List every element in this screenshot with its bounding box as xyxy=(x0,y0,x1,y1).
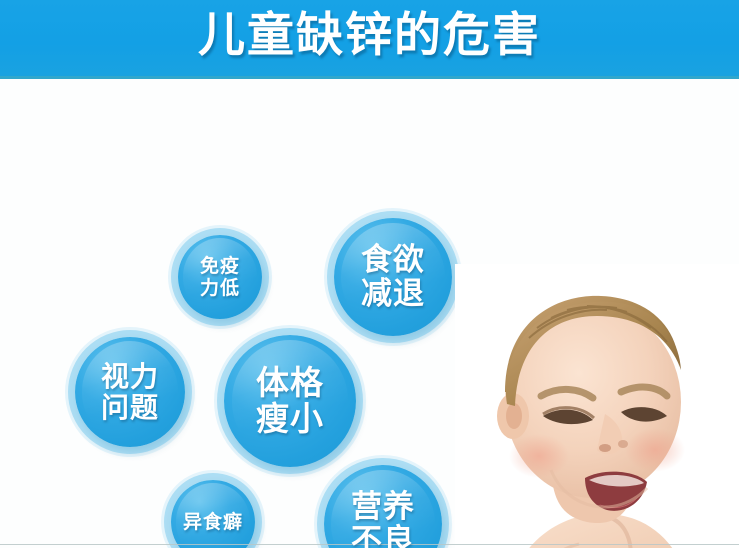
content-area: 免疫 力低 食欲 减退 视力 问题 体格 瘦小 异食癖 营养 不良 xyxy=(0,79,739,548)
bubble-immunity: 免疫 力低 xyxy=(178,235,262,319)
bubble-pica: 异食癖 xyxy=(171,480,255,548)
bubble-nutrition-label: 营养 不良 xyxy=(351,490,415,548)
bubble-physique-label: 体格 瘦小 xyxy=(256,365,324,437)
bubble-appetite-label: 食欲 减退 xyxy=(361,243,425,311)
header-banner: 儿童缺锌的危害 xyxy=(0,0,739,79)
bubble-vision-label: 视力 问题 xyxy=(101,361,159,423)
bubble-vision: 视力 问题 xyxy=(75,337,185,447)
bubble-nutrition: 营养 不良 xyxy=(324,465,442,548)
poster-canvas: 儿童缺锌的危害 免疫 力低 食欲 减退 视力 问题 体格 瘦小 异食癖 营养 不… xyxy=(0,0,739,548)
bubble-pica-label: 异食癖 xyxy=(183,511,243,533)
bubble-physique: 体格 瘦小 xyxy=(224,335,356,467)
crying-baby-photo xyxy=(455,264,739,548)
page-title: 儿童缺锌的危害 xyxy=(0,8,739,64)
crying-baby-illustration xyxy=(455,264,739,548)
bubble-appetite: 食欲 减退 xyxy=(334,218,452,336)
bubble-immunity-label: 免疫 力低 xyxy=(200,255,240,299)
